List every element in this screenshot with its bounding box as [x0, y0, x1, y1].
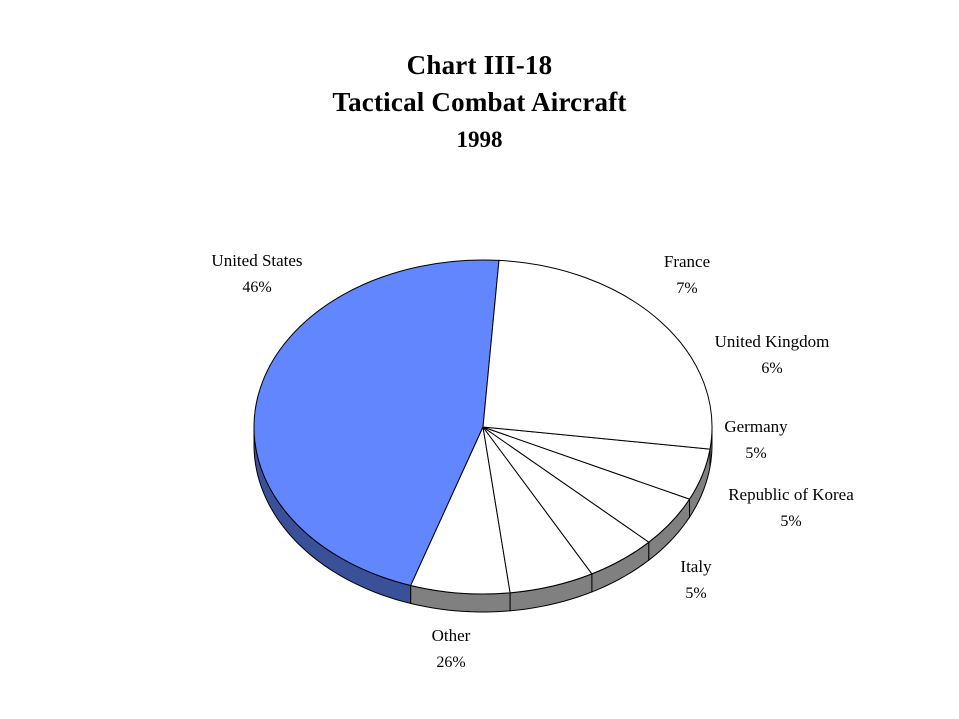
slice-label-italy-percent: 5% — [652, 586, 740, 602]
slice-label-united-states-name: United States — [196, 252, 318, 269]
slice-label-germany: Germany 5% — [712, 418, 800, 462]
slice-label-republic-of-korea: Republic of Korea 5% — [713, 486, 869, 530]
slice-label-italy: Italy 5% — [652, 558, 740, 602]
chart-canvas: Chart III-18 Tactical Combat Aircraft 19… — [0, 0, 959, 719]
slice-label-france-name: France — [648, 253, 726, 270]
slice-label-united-kingdom: United Kingdom 6% — [702, 333, 842, 377]
slice-label-germany-percent: 5% — [712, 446, 800, 462]
slice-label-united-states: United States 46% — [196, 252, 318, 296]
slice-label-other-percent: 26% — [396, 655, 506, 671]
slice-label-other-name: Other — [396, 627, 506, 644]
slice-label-united-kingdom-percent: 6% — [702, 361, 842, 377]
slice-label-republic-of-korea-name: Republic of Korea — [713, 486, 869, 503]
slice-label-united-kingdom-name: United Kingdom — [702, 333, 842, 350]
slice-label-germany-name: Germany — [712, 418, 800, 435]
slice-label-other: Other 26% — [396, 627, 506, 671]
slice-label-france: France 7% — [648, 253, 726, 297]
slice-label-republic-of-korea-percent: 5% — [713, 514, 869, 530]
pie-top-faces — [254, 260, 712, 594]
slice-label-italy-name: Italy — [652, 558, 740, 575]
slice-label-united-states-percent: 46% — [196, 280, 318, 296]
slice-label-france-percent: 7% — [648, 281, 726, 297]
